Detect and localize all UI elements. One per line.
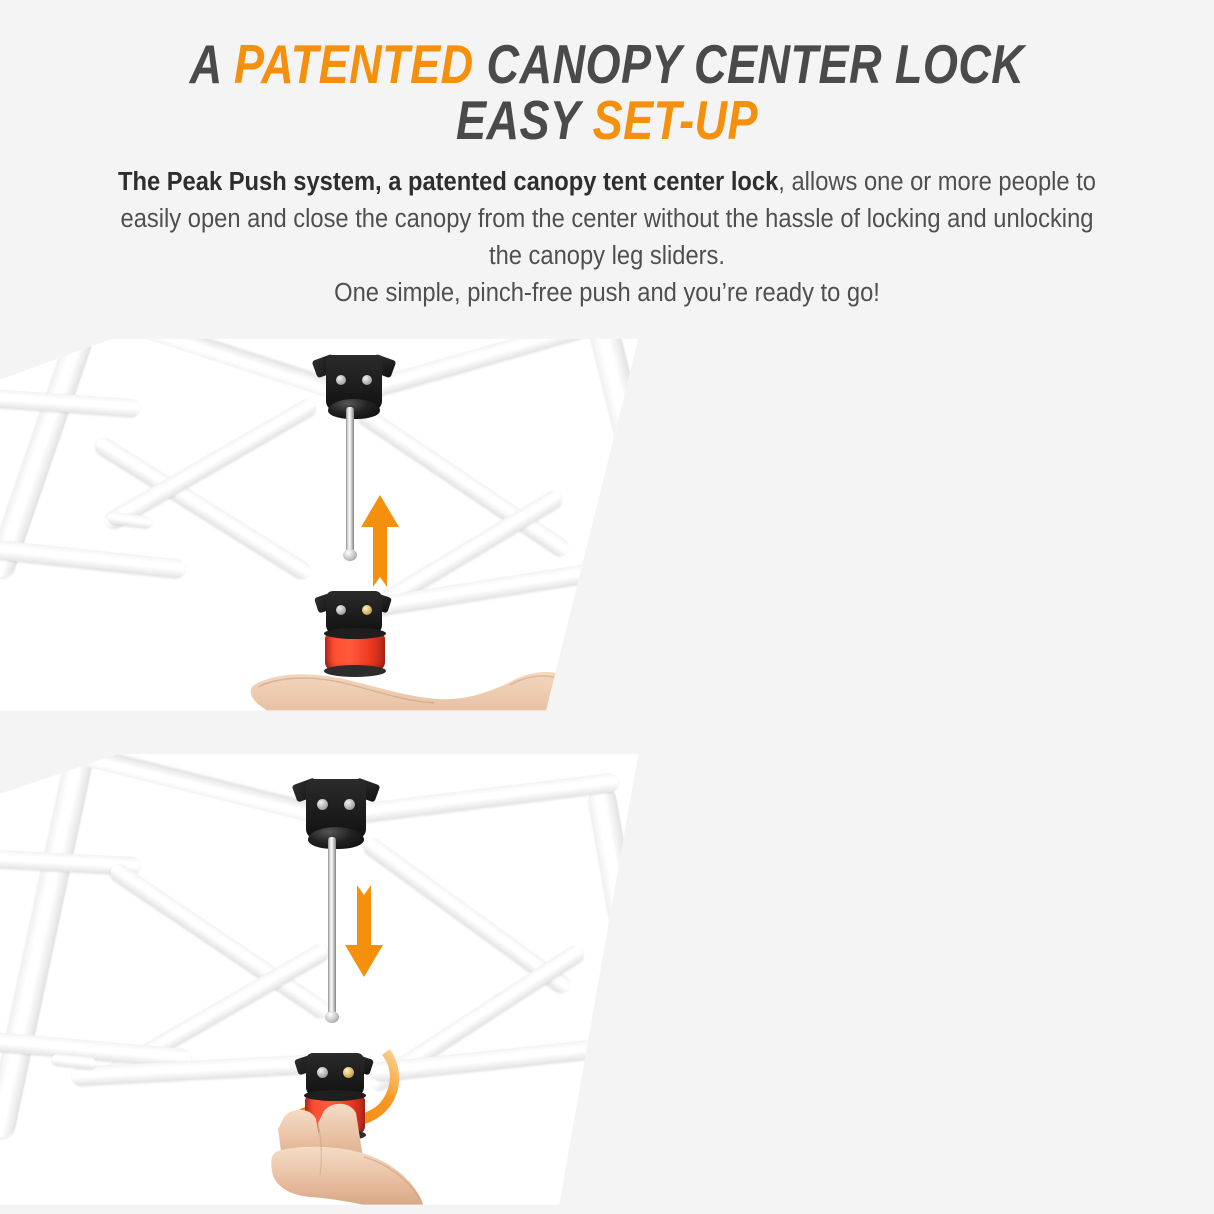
arrow-up-icon [360,495,400,595]
center-lock-rod-tip [325,1011,339,1023]
page-title-line-1: A PATENTED CANOPY CENTER LOCK [109,38,1104,90]
lower-hub-bolt-right [362,605,372,615]
feature-image-grid: Canopy frame collapsed – chrome rod exte… [0,333,1214,1214]
product-feature-page: A PATENTED CANOPY CENTER LOCK EASY SET-U… [0,0,1214,1214]
hand-open-palm-svg [248,651,578,722]
arrow-down-icon [344,877,384,977]
page-title-line-2: EASY SET-UP [109,94,1104,146]
panel-2-photo-plate [0,333,658,722]
lower-hub-bolt-left [317,1067,328,1078]
arrow-down-svg [344,877,384,977]
header: A PATENTED CANOPY CENTER LOCK EASY SET-U… [0,0,1214,312]
frame-leg-right [582,333,658,722]
panel-4-caption: Fingers twisting and pulling the red cen… [0,747,1,748]
center-lock-rod-tip [343,549,357,561]
hand-open-palm [248,651,578,722]
frame-bar-upper-right [349,772,619,824]
title-text-a: A [190,33,234,95]
title-accent-patented: PATENTED [234,33,474,95]
center-lock-rod [328,837,336,1017]
arrow-up-svg [360,495,400,595]
panel-2: Hand pushing the red center lock collar … [0,333,658,722]
lower-hub-bolt-right [343,1067,354,1078]
panel-4-photo-plate [0,747,658,1214]
frame-eave-left [0,539,186,579]
title-accent-set-up: SET-UP [593,89,758,151]
upper-hub-skirt-icon [308,827,364,849]
upper-hub-bolt-left [336,375,346,385]
center-lock-rod [346,407,354,555]
frame-leg-right [586,785,658,1184]
frame-bar-scissor-left [107,861,333,1021]
description-bold-lead: The Peak Push system, a patented canopy … [118,168,778,196]
upper-hub-bolt-right [362,375,372,385]
lower-hub-bolt-left [336,605,346,615]
description-paragraph: The Peak Push system, a patented canopy … [109,164,1104,312]
hand-two-finger-pinch [266,1101,446,1214]
panel-4: Fingers twisting and pulling the red cen… [0,747,658,1214]
description-closing-line: One simple, pinch-free push and you’re r… [334,279,880,307]
title-text-easy: EASY [456,89,593,151]
upper-hub-skirt-icon [328,399,380,419]
panel-2-caption: Hand pushing the red center lock collar … [0,333,1,334]
title-text-canopy-center-lock: CANOPY CENTER LOCK [474,33,1025,95]
upper-hub-bolt-left [317,799,328,810]
frame-bar-upper-left [86,333,339,400]
hand-pinch-svg [266,1101,446,1214]
upper-hub-bolt-right [344,799,355,810]
